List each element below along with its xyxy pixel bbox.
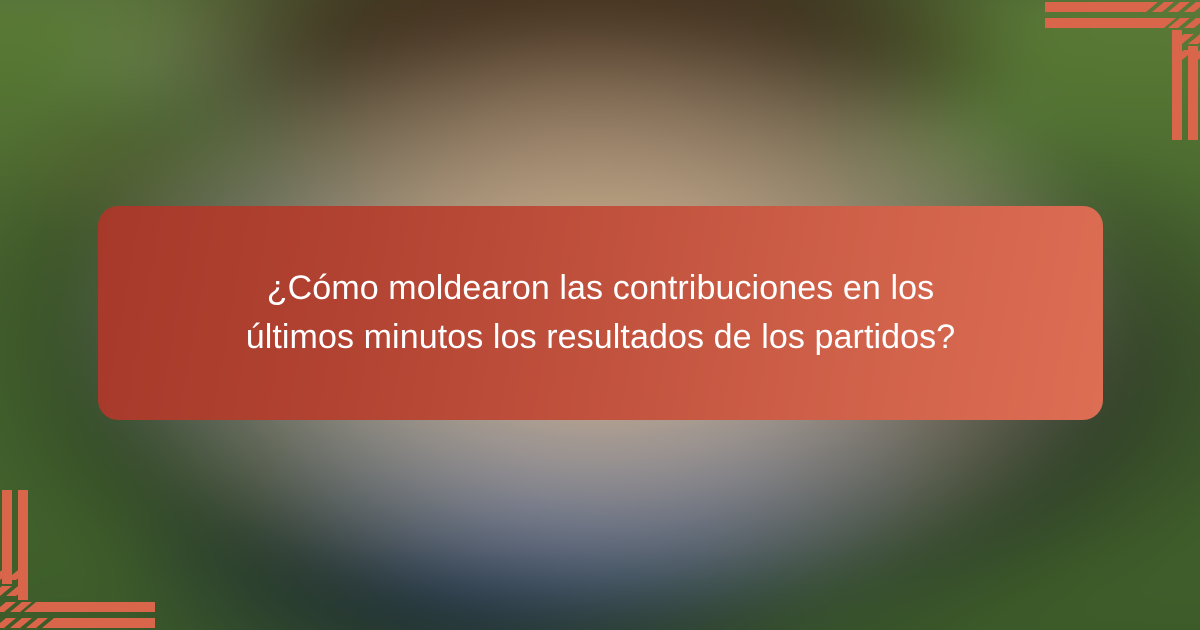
corner-ornament-bottom-left <box>0 488 160 630</box>
social-card-canvas: ¿Cómo moldearon las contribuciones en lo… <box>0 0 1200 630</box>
headline-text: ¿Cómo moldearon las contribuciones en lo… <box>211 264 991 363</box>
headline-card: ¿Cómo moldearon las contribuciones en lo… <box>98 206 1103 420</box>
corner-ornament-top-right <box>1040 0 1200 142</box>
